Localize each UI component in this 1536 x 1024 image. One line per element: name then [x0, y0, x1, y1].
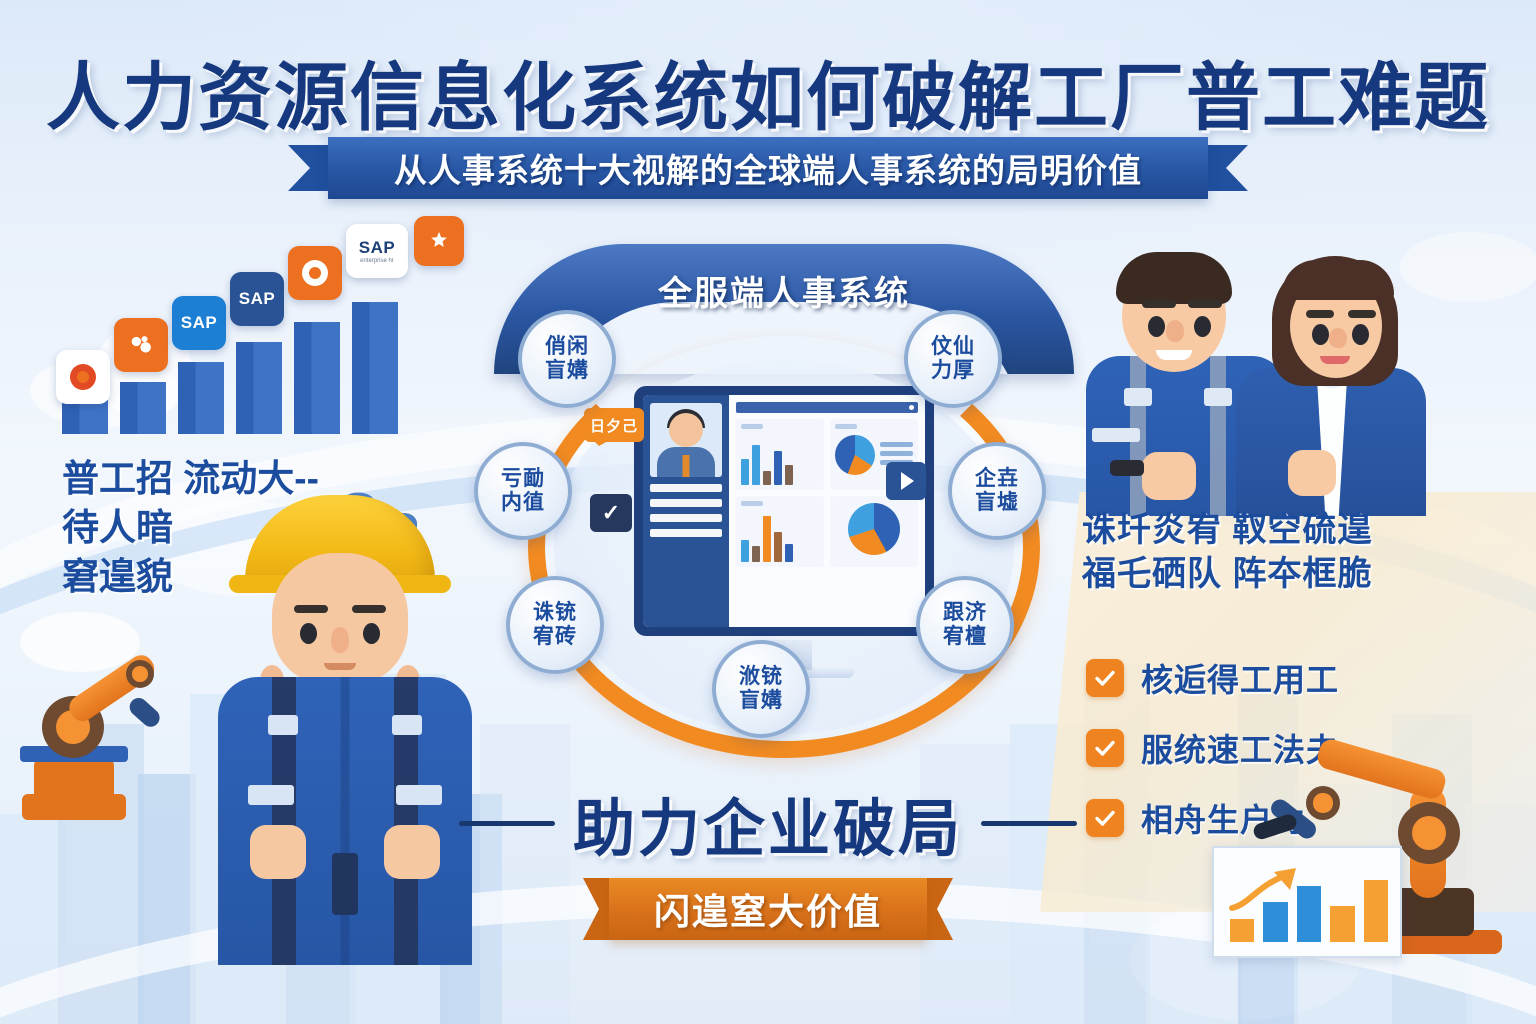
dashboard-bar-widget [736, 419, 824, 490]
growth-chart-card [1212, 846, 1402, 958]
notification-bubble[interactable]: 日夕己 [584, 408, 644, 442]
node-line-1: 跟济 [943, 601, 987, 625]
growth-bar [1364, 880, 1388, 942]
node-line-1: 浟铳 [739, 665, 783, 689]
growth-chart-bars [1230, 866, 1388, 942]
monitor-screen [643, 395, 925, 627]
node-line-2: 盲媾 [739, 689, 783, 713]
robot-arm-left-icon [8, 630, 178, 820]
logo-sublabel: enterprise hr [360, 258, 394, 264]
cta-ribbon-text: 闪遑窒大价值 [654, 883, 882, 935]
logo-label: SAP [359, 238, 395, 258]
node-line-2: 盲媾 [545, 359, 589, 383]
hub-node-top-right[interactable]: 伩仙 力厚 [904, 310, 1002, 408]
node-line-1: 诛铳 [533, 601, 577, 625]
cta-rule-left [459, 821, 555, 826]
checklist-label: 服统速工法夫 [1141, 725, 1339, 771]
logo-label: SAP [181, 313, 217, 333]
sidebar-line [650, 499, 722, 507]
play-button[interactable] [886, 462, 926, 500]
node-line-2: 盲墟 [975, 491, 1019, 515]
hub-node-bottom-left[interactable]: 诛铳 宥砖 [506, 576, 604, 674]
sidebar-line [650, 529, 722, 537]
male-worker-hair [1116, 252, 1232, 304]
check-icon [1086, 659, 1124, 697]
logo-tile-orange-gears-icon [114, 318, 168, 372]
dashboard-pie-large-widget [830, 496, 918, 567]
chart-bar [236, 342, 282, 434]
node-line-2: 内徝 [501, 491, 545, 515]
node-line-1: 企壵 [975, 467, 1019, 491]
worker-head [272, 553, 408, 685]
employee-avatar [650, 403, 722, 477]
hub-node-left[interactable]: 亏勔 内徝 [474, 442, 572, 540]
check-icon [1086, 729, 1124, 767]
employees-illustration [1086, 238, 1466, 510]
hub-node-top-left[interactable]: 俏闲 盲媾 [518, 310, 616, 408]
benefits-heading: 诛圲炎宥 靫空硫遑 福乇硒队 阵夲框脆 [1082, 508, 1502, 596]
hub-banner-text: 全服端人事系统 [474, 266, 1094, 315]
pie-chart-small [835, 435, 875, 475]
chart-bar [120, 382, 166, 434]
hub-node-bottom-right[interactable]: 跟济 宥檀 [916, 576, 1014, 674]
logo-tile-orange-cloud-icon [288, 246, 342, 300]
check-badge-icon: ✓ [590, 494, 632, 532]
checklist-item[interactable]: 核逅得工用工 [1086, 655, 1486, 701]
central-hub: 全服端人事系统 [474, 240, 1094, 770]
chart-bar [352, 302, 398, 434]
dashboard-main [729, 395, 925, 627]
infographic-poster: 人力资源信息化系统如何破解工厂普工难题 从人事系统十大视解的全球端人事系统的局明… [0, 0, 1536, 1024]
hub-node-bottom[interactable]: 浟铳 盲媾 [712, 640, 810, 738]
cta-headline: 助力企业破局 [573, 778, 963, 868]
dashboard-titlebar [736, 402, 918, 413]
chart-bar [62, 400, 108, 434]
dashboard-sidebar [643, 395, 729, 627]
vendor-bar-chart: SAP SAP SAP enterprise hr [62, 222, 412, 434]
subtitle-banner: 从人事系统十大视解的全球端人事系统的局明价值 [328, 137, 1208, 199]
logo-tile-top-icon [414, 216, 464, 266]
logo-tile-red-icon [56, 350, 110, 404]
growth-bar [1330, 906, 1354, 942]
pie-chart-large [848, 503, 900, 555]
growth-bar [1297, 886, 1321, 942]
chart-bar [178, 362, 224, 434]
checklist-label: 核逅得工用工 [1141, 655, 1339, 701]
cta-ribbon-tail-right [923, 878, 953, 940]
chart-bar [294, 322, 340, 434]
subtitle-text: 从人事系统十大视解的全球端人事系统的局明价值 [394, 144, 1142, 192]
node-line-2: 宥砖 [533, 625, 577, 649]
hub-node-right[interactable]: 企壵 盲墟 [948, 442, 1046, 540]
node-line-1: 亏勔 [501, 467, 545, 491]
bubble-text: 日夕己 [590, 415, 638, 436]
node-line-1: 俏闲 [545, 335, 589, 359]
cta-ribbon: 闪遑窒大价值 [583, 878, 953, 940]
growth-bar [1230, 919, 1254, 942]
sidebar-line [650, 514, 722, 522]
subtitle-ribbon: 从人事系统十大视解的全球端人事系统的局明价值 [288, 137, 1248, 199]
sidebar-line [650, 484, 722, 492]
logo-tile-sap-light-icon: SAP [172, 296, 226, 350]
cta-rule-right [981, 821, 1077, 826]
benefits-heading-line-2: 福乇硒队 阵夲框脆 [1082, 552, 1502, 596]
hr-dashboard-monitor [634, 386, 934, 636]
page-title: 人力资源信息化系统如何破解工厂普工难题 [0, 38, 1536, 145]
node-line-1: 伩仙 [931, 335, 975, 359]
node-line-2: 宥檀 [943, 625, 987, 649]
cta-ribbon-body: 闪遑窒大价值 [609, 878, 927, 940]
growth-bar [1263, 902, 1287, 942]
logo-tile-sap-dark-icon: SAP [230, 272, 284, 326]
logo-label: SAP [239, 289, 275, 309]
dashboard-trend-widget [736, 496, 824, 567]
logo-tile-sap-white-icon: SAP enterprise hr [346, 224, 408, 278]
node-line-2: 力厚 [931, 359, 975, 383]
benefits-heading-line-1: 诛圲炎宥 靫空硫遑 [1082, 508, 1502, 552]
